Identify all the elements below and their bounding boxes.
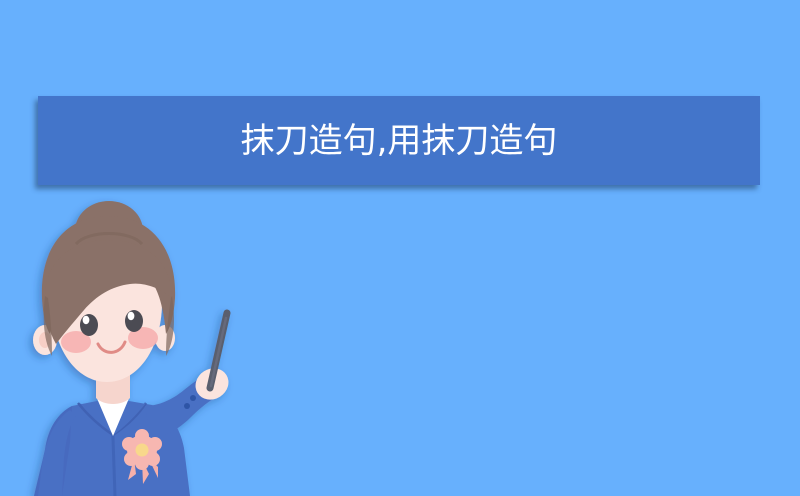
eye-left — [80, 314, 98, 336]
teacher-illustration — [12, 210, 252, 496]
teacher-figure — [33, 201, 234, 496]
page-canvas: 抹刀造句,用抹刀造句 — [0, 0, 800, 496]
title-banner: 抹刀造句,用抹刀造句 — [38, 96, 760, 185]
page-title: 抹刀造句,用抹刀造句 — [241, 124, 558, 158]
eye-right — [125, 310, 143, 332]
